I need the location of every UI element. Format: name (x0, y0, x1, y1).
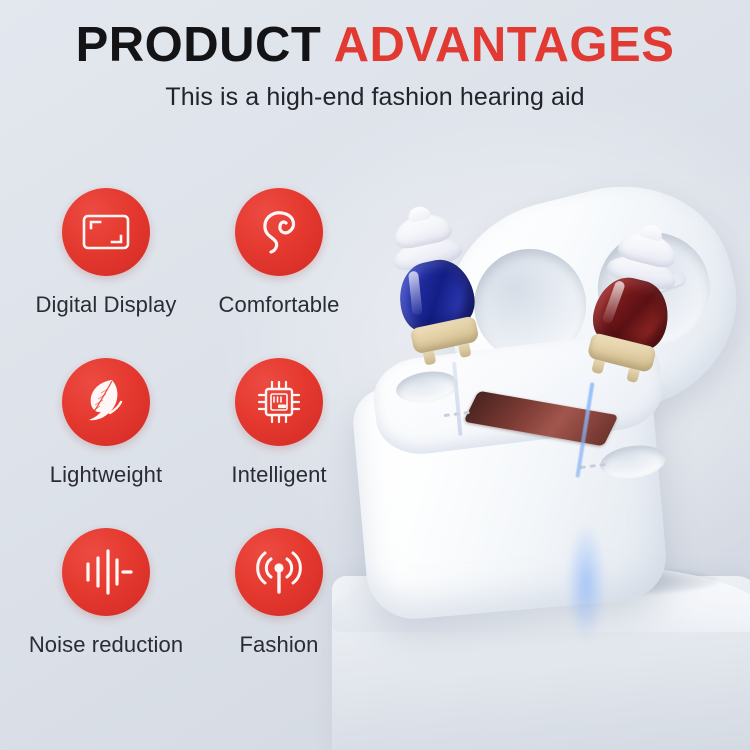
broadcast-signal-icon (253, 546, 305, 598)
feature-label: Lightweight (50, 462, 162, 488)
page-title: PRODUCT ADVANTAGES (0, 20, 750, 71)
feature-badge (235, 358, 323, 446)
feature-item-intelligent[interactable]: Intelligent (198, 358, 370, 528)
feature-item-digital-display[interactable]: Digital Display (18, 188, 190, 358)
blue-light-glow (566, 522, 606, 642)
title-red-part: ADVANTAGES (334, 18, 675, 72)
feature-label: Fashion (240, 632, 319, 658)
feature-label: Digital Display (36, 292, 177, 318)
feature-label: Noise reduction (29, 632, 183, 658)
cpu-chip-icon (253, 376, 305, 428)
feature-label: Intelligent (231, 462, 326, 488)
display-screen-icon (81, 212, 131, 252)
product-advantages-poster: PRODUCT ADVANTAGES This is a high-end fa… (0, 0, 750, 750)
page-subtitle: This is a high-end fashion hearing aid (0, 83, 750, 112)
feature-item-comfortable[interactable]: Comfortable (198, 188, 370, 358)
feature-badge (62, 358, 150, 446)
feature-badge (62, 188, 150, 276)
sound-wave-minus-icon (79, 547, 133, 597)
feature-label: Comfortable (219, 292, 340, 318)
title-black-part: PRODUCT (76, 18, 322, 72)
poster-header: PRODUCT ADVANTAGES This is a high-end fa… (0, 0, 750, 112)
feather-icon (79, 376, 133, 428)
ear-icon (256, 206, 302, 258)
product-image (352, 150, 750, 750)
feature-badge (62, 528, 150, 616)
feature-grid: Digital Display Comfortable (18, 188, 370, 698)
earpiece-left-blue (383, 208, 487, 371)
feature-item-lightweight[interactable]: Lightweight (18, 358, 190, 528)
feature-badge (235, 188, 323, 276)
feature-badge (235, 528, 323, 616)
feature-item-noise-reduction[interactable]: Noise reduction (18, 528, 190, 698)
